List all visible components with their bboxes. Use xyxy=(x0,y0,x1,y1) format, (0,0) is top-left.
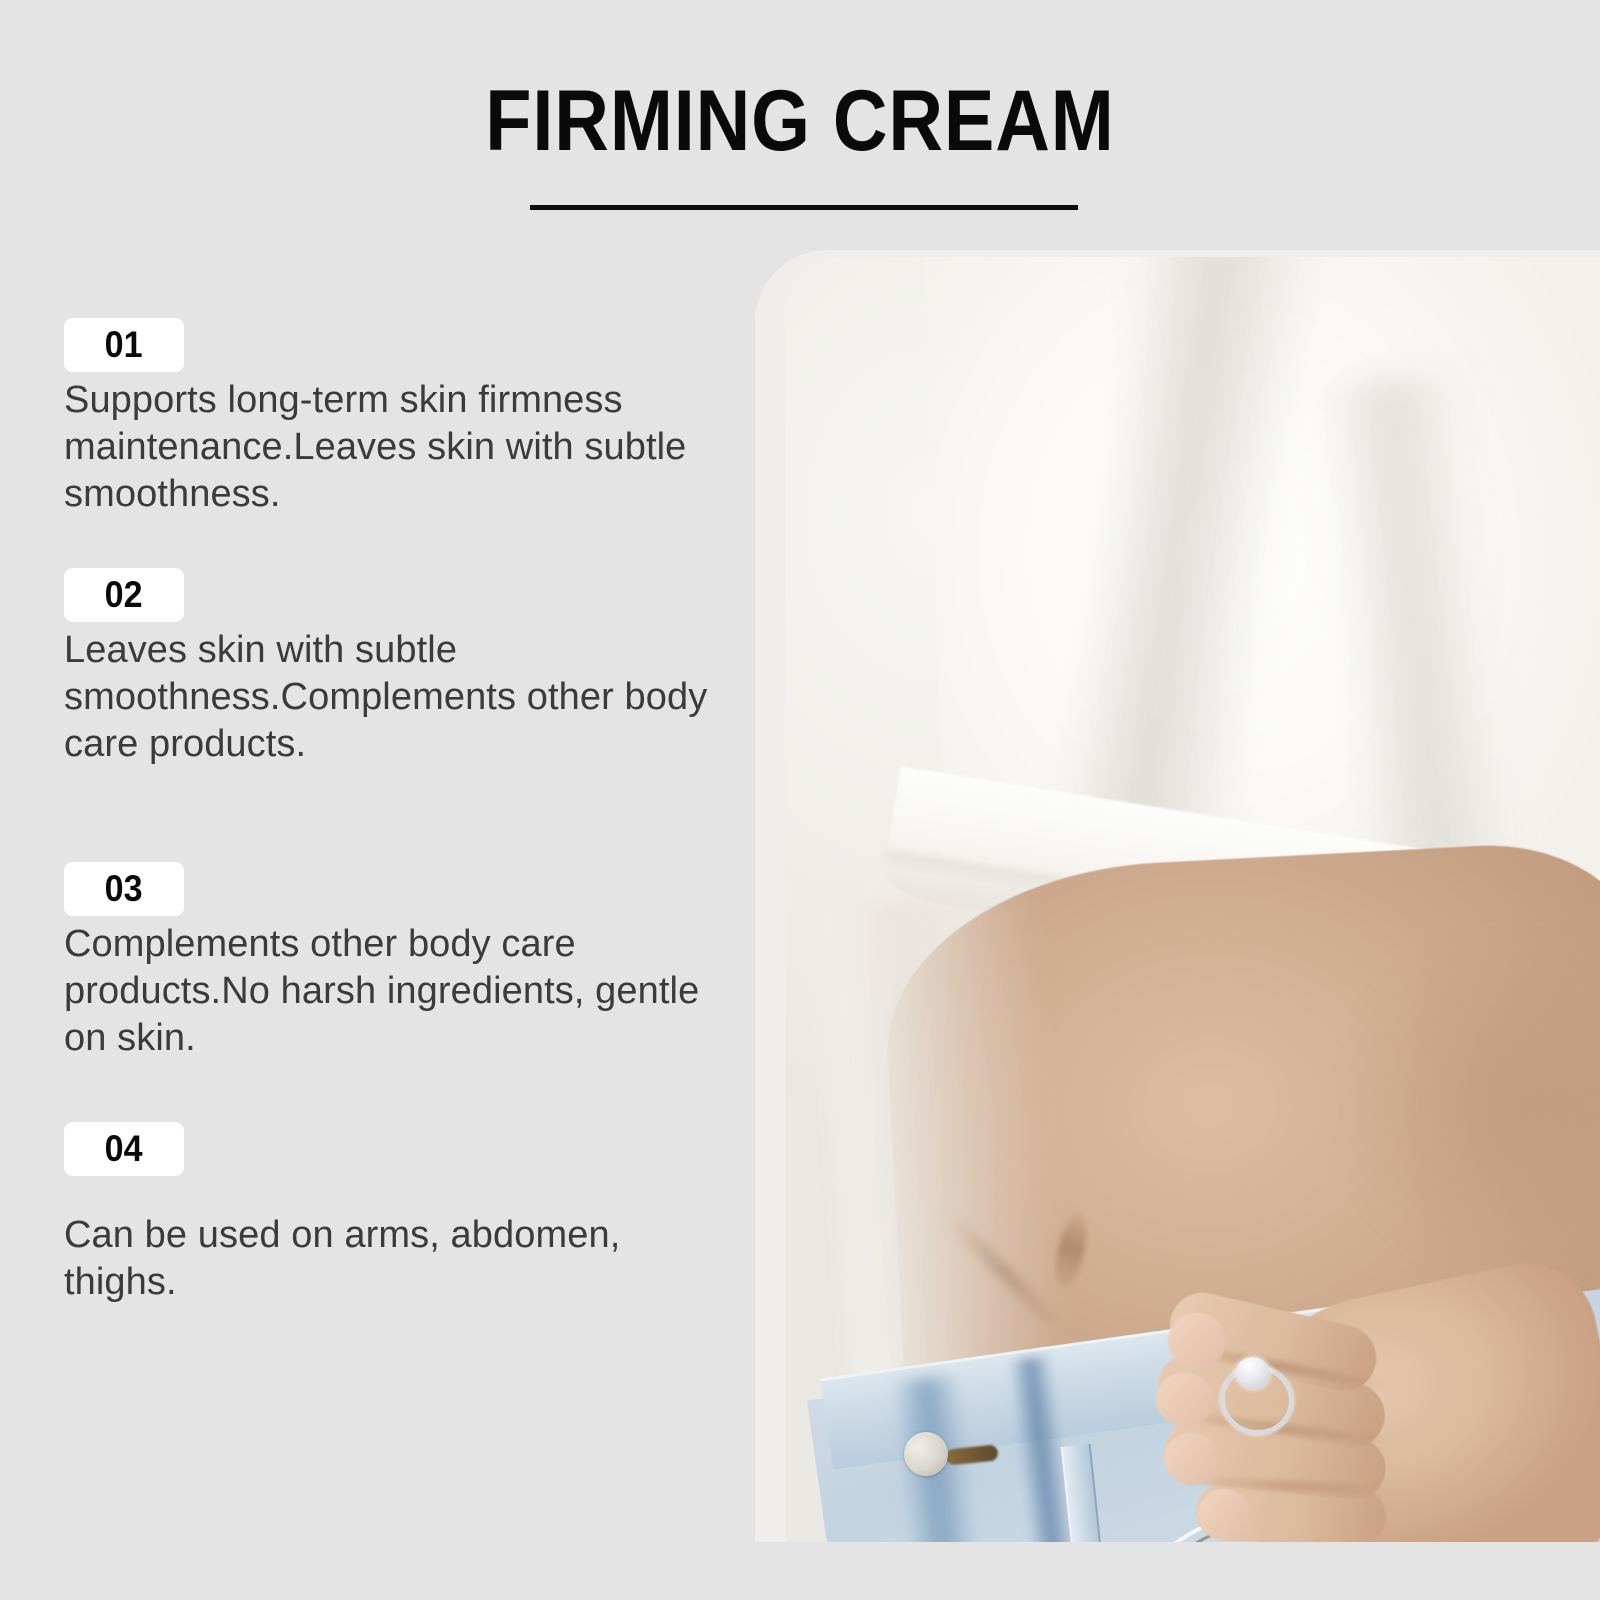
hand-on-hip xyxy=(1116,1257,1600,1542)
feature-number-03: 03 xyxy=(105,862,143,916)
feature-number-badge-02: 02 xyxy=(64,568,184,622)
feature-number-04: 04 xyxy=(105,1122,143,1176)
feature-text-03: Complements other body care products.No … xyxy=(64,921,729,1062)
feature-number-01: 01 xyxy=(105,318,143,372)
feature-text-04: Can be used on arms, abdomen, thighs. xyxy=(64,1212,729,1306)
feature-item-04: 04 Can be used on arms, abdomen, thighs. xyxy=(64,1122,734,1306)
product-model-photo xyxy=(786,257,1600,1542)
feature-text-01: Supports long-term skin firmness mainten… xyxy=(64,377,729,518)
feature-text-02: Leaves skin with subtle smoothness.Compl… xyxy=(64,627,729,768)
feature-list: 01 Supports long-term skin firmness main… xyxy=(0,0,755,1600)
feature-number-badge-04: 04 xyxy=(64,1122,184,1176)
feature-number-badge-03: 03 xyxy=(64,862,184,916)
feature-item-03: 03 Complements other body care products.… xyxy=(64,862,734,1062)
feature-item-02: 02 Leaves skin with subtle smoothness.Co… xyxy=(64,568,734,768)
feature-item-01: 01 Supports long-term skin firmness main… xyxy=(64,318,734,518)
feature-number-02: 02 xyxy=(105,568,143,622)
feature-number-badge-01: 01 xyxy=(64,318,184,372)
